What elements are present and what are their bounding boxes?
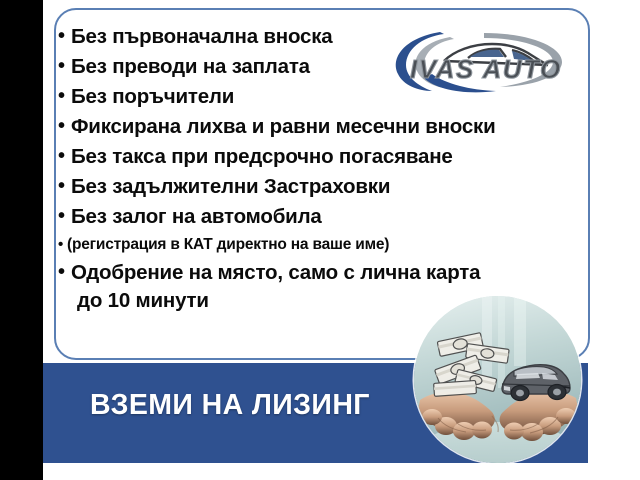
list-item-label: Без преводи на заплата (71, 53, 310, 81)
bullet-dot-icon: • (58, 203, 71, 231)
list-item-label: Без поръчители (71, 83, 234, 111)
bullet-dot-icon: • (58, 143, 71, 171)
letterbox-bar-left (0, 0, 43, 480)
list-item: • Фиксирана лихва и равни месечни вноски (58, 113, 588, 141)
list-item-label-line2: до 10 минути (71, 287, 480, 315)
list-item-label: Без залог на автомобила (71, 203, 322, 231)
bullet-dot-icon: • (58, 173, 71, 201)
bullet-dot-icon: • (58, 233, 67, 256)
leasing-promo-poster: • Без първоначална вноска • Без преводи … (0, 0, 640, 480)
cta-banner-label: ВЗЕМИ НА ЛИЗИНГ (90, 389, 370, 422)
list-item-label: Без такса при предсрочно погасяване (71, 143, 453, 171)
list-item-label: Фиксирана лихва и равни месечни вноски (71, 113, 496, 141)
list-item: • Без залог на автомобила (58, 203, 588, 231)
bullet-dot-icon: • (58, 259, 71, 287)
list-item-label: Одобрение на място, само с лична карта (71, 261, 480, 284)
list-item-note: • (регистрация в КАТ директно на ваше им… (58, 233, 588, 256)
bullet-dot-icon: • (58, 23, 71, 51)
list-item-label: Без задължителни Застраховки (71, 173, 390, 201)
bullet-dot-icon: • (58, 113, 71, 141)
ivas-auto-car-logo-icon: IVAS AUTO IVAS AUTO (388, 24, 566, 94)
poster-bottom-strip (43, 463, 640, 480)
list-item: • Без задължителни Застраховки (58, 173, 588, 201)
list-item-label: Без първоначална вноска (71, 23, 333, 51)
list-item-note-label: (регистрация в КАТ директно на ваше име) (67, 233, 389, 256)
svg-text:IVAS AUTO: IVAS AUTO (410, 54, 562, 84)
hands-money-car-photo (414, 296, 581, 463)
bullet-dot-icon: • (58, 83, 71, 111)
list-item: • Без такса при предсрочно погасяване (58, 143, 588, 171)
bullet-dot-icon: • (58, 53, 71, 81)
list-item-label-wrapped: Одобрение на място, само с лична карта д… (71, 259, 480, 314)
